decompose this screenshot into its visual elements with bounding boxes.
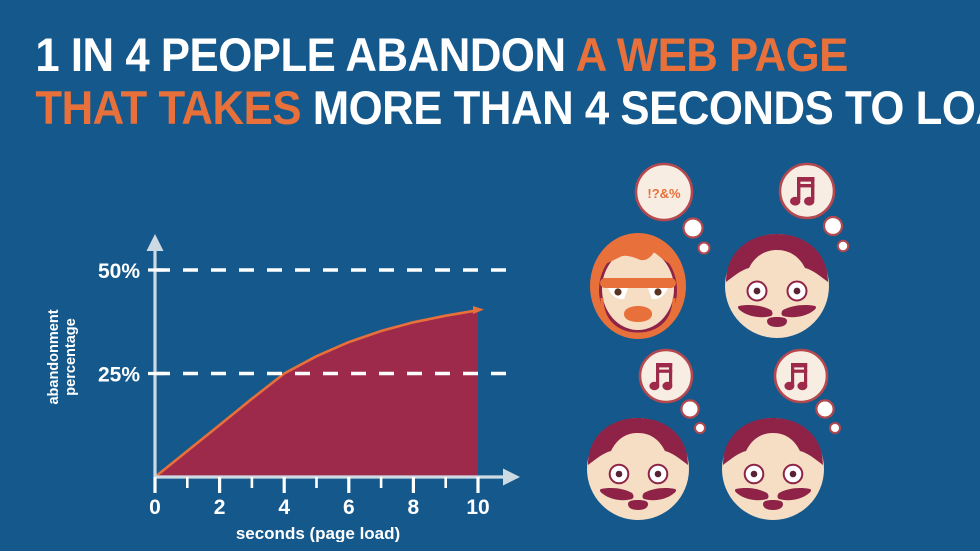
face-happy-illustration — [715, 343, 890, 533]
chart-plot-area: 50% 25% 0 2 4 6 8 10 seconds (page load) — [18, 222, 538, 542]
x-axis-arrow-icon — [503, 469, 520, 486]
thought-bubble-large — [780, 164, 834, 218]
x-tick-label-0: 0 — [149, 496, 161, 519]
left-pupil — [616, 471, 623, 478]
area-series-fill — [155, 310, 478, 477]
page-title: 1 IN 4 PEOPLE ABANDON A WEB PAGE THAT TA… — [0, 28, 980, 134]
thought-bubble-small — [699, 243, 710, 254]
smile-mouth — [628, 500, 648, 510]
x-tick-label-6: 6 — [343, 496, 355, 519]
thought-bubble-large — [640, 350, 692, 402]
people-grid: !?&% — [575, 158, 965, 548]
title-line-1-orange: A WEB PAGE — [576, 28, 848, 81]
title-line-2: THAT TAKES MORE THAN 4 SECONDS TO LOAD — [0, 81, 911, 134]
title-line-2-orange: THAT TAKES — [35, 81, 312, 134]
frown-mouth — [624, 306, 652, 322]
left-pupil — [614, 288, 621, 295]
x-tick-label-10: 10 — [466, 496, 489, 519]
person-happy-1 — [715, 158, 890, 348]
abandonment-area-chart: abandonment percentage — [18, 222, 538, 542]
smile-mouth — [763, 500, 783, 510]
y-tick-label-50: 50% — [98, 260, 140, 283]
thought-bubble-large — [775, 350, 827, 402]
right-pupil — [794, 288, 801, 295]
y-axis-arrow-icon — [147, 234, 164, 251]
face-happy-illustration — [715, 158, 890, 348]
title-line-1-white: 1 IN 4 PEOPLE ABANDON — [35, 28, 575, 81]
series-end-arrow-icon — [473, 306, 484, 314]
title-line-2-white: MORE THAN 4 SECONDS TO LOAD — [313, 81, 980, 134]
infographic-canvas: 1 IN 4 PEOPLE ABANDON A WEB PAGE THAT TA… — [0, 0, 980, 551]
thought-bubble-small — [838, 241, 848, 251]
thought-bubble-medium — [824, 217, 842, 235]
thought-bubble-small — [830, 423, 840, 433]
x-axis-title: seconds (page load) — [236, 524, 400, 542]
right-pupil — [654, 288, 661, 295]
thought-bubble-small — [695, 423, 705, 433]
smile-mouth — [767, 317, 787, 327]
left-pupil — [754, 288, 761, 295]
bubble-grawlix-text: !?&% — [647, 186, 681, 201]
title-line-1: 1 IN 4 PEOPLE ABANDON A WEB PAGE — [0, 28, 911, 81]
thought-bubble-medium — [816, 400, 833, 417]
right-pupil — [655, 471, 662, 478]
y-tick-label-25: 25% — [98, 364, 140, 387]
thought-bubble-medium — [684, 219, 703, 238]
left-pupil — [751, 471, 758, 478]
right-pupil — [790, 471, 797, 478]
x-tick-label-8: 8 — [408, 496, 420, 519]
x-tick-label-2: 2 — [214, 496, 226, 519]
angry-brow-bar — [600, 278, 676, 288]
person-happy-3 — [715, 343, 890, 533]
x-tick-label-4: 4 — [278, 496, 290, 519]
thought-bubble-medium — [681, 400, 698, 417]
